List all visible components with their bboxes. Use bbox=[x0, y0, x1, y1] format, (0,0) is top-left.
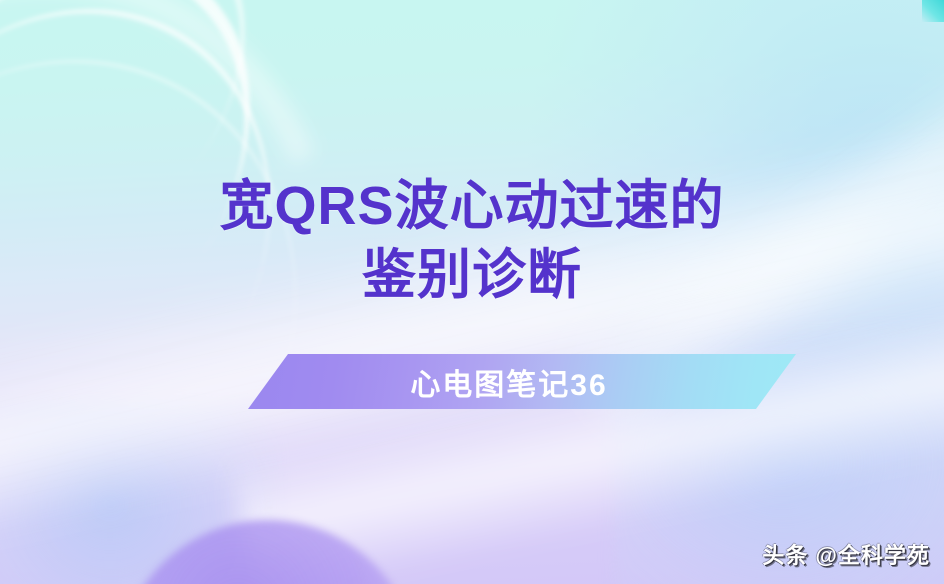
corner-teal-notch bbox=[922, 0, 944, 22]
page-title: 宽QRS波心动过速的 鉴别诊断 bbox=[0, 172, 944, 310]
subtitle-banner: 心电图笔记36 bbox=[248, 354, 796, 409]
watermark: 头条 @全科学苑 bbox=[762, 538, 930, 570]
slide-canvas: 宽QRS波心动过速的 鉴别诊断 心电图笔记36 头条 @全科学苑 bbox=[0, 0, 944, 584]
subtitle-banner-label: 心电图笔记36 bbox=[248, 354, 796, 409]
title-line-2: 鉴别诊断 bbox=[0, 241, 944, 310]
title-line-1: 宽QRS波心动过速的 bbox=[0, 172, 944, 241]
